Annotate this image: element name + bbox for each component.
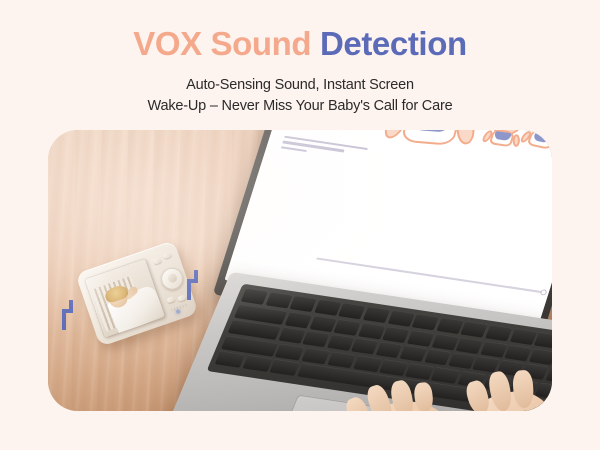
hero-photo [48,130,552,411]
monitor-button-power[interactable] [153,257,162,264]
monitor-dial-pad[interactable] [158,264,186,292]
document-text-column [277,130,393,173]
bear-illustration-row [365,130,552,233]
page-title: VOX Sound Detection [0,26,600,63]
sound-wave-icon [183,270,201,300]
monitor-button-talk[interactable] [166,296,175,303]
page-header: VOX Sound Detection Auto-Sensing Sound, … [0,0,600,118]
bear-character-small [522,130,552,151]
sound-wave-icon [60,300,78,330]
page-subtitle-line-2: Wake-Up – Never Miss Your Baby's Call fo… [0,96,600,117]
screen-glare [84,258,165,337]
laptop-computer [185,130,552,411]
document-scrollbar-handle[interactable] [540,289,548,296]
monitor-button-menu[interactable] [163,251,172,258]
page-title-accent: Detection [320,25,467,62]
document-paragraph [281,136,372,162]
bear-character-large [388,130,487,147]
monitor-status-led [175,309,180,314]
page-subtitle-line-1: Auto-Sensing Sound, Instant Screen [0,75,600,96]
document-paragraph [288,130,383,137]
page-subtitle: Auto-Sensing Sound, Instant Screen Wake-… [0,75,600,118]
document-scrollbar[interactable] [317,257,545,293]
page-title-highlight: VOX Sound [133,25,320,62]
baby-monitor-screen [84,258,165,337]
